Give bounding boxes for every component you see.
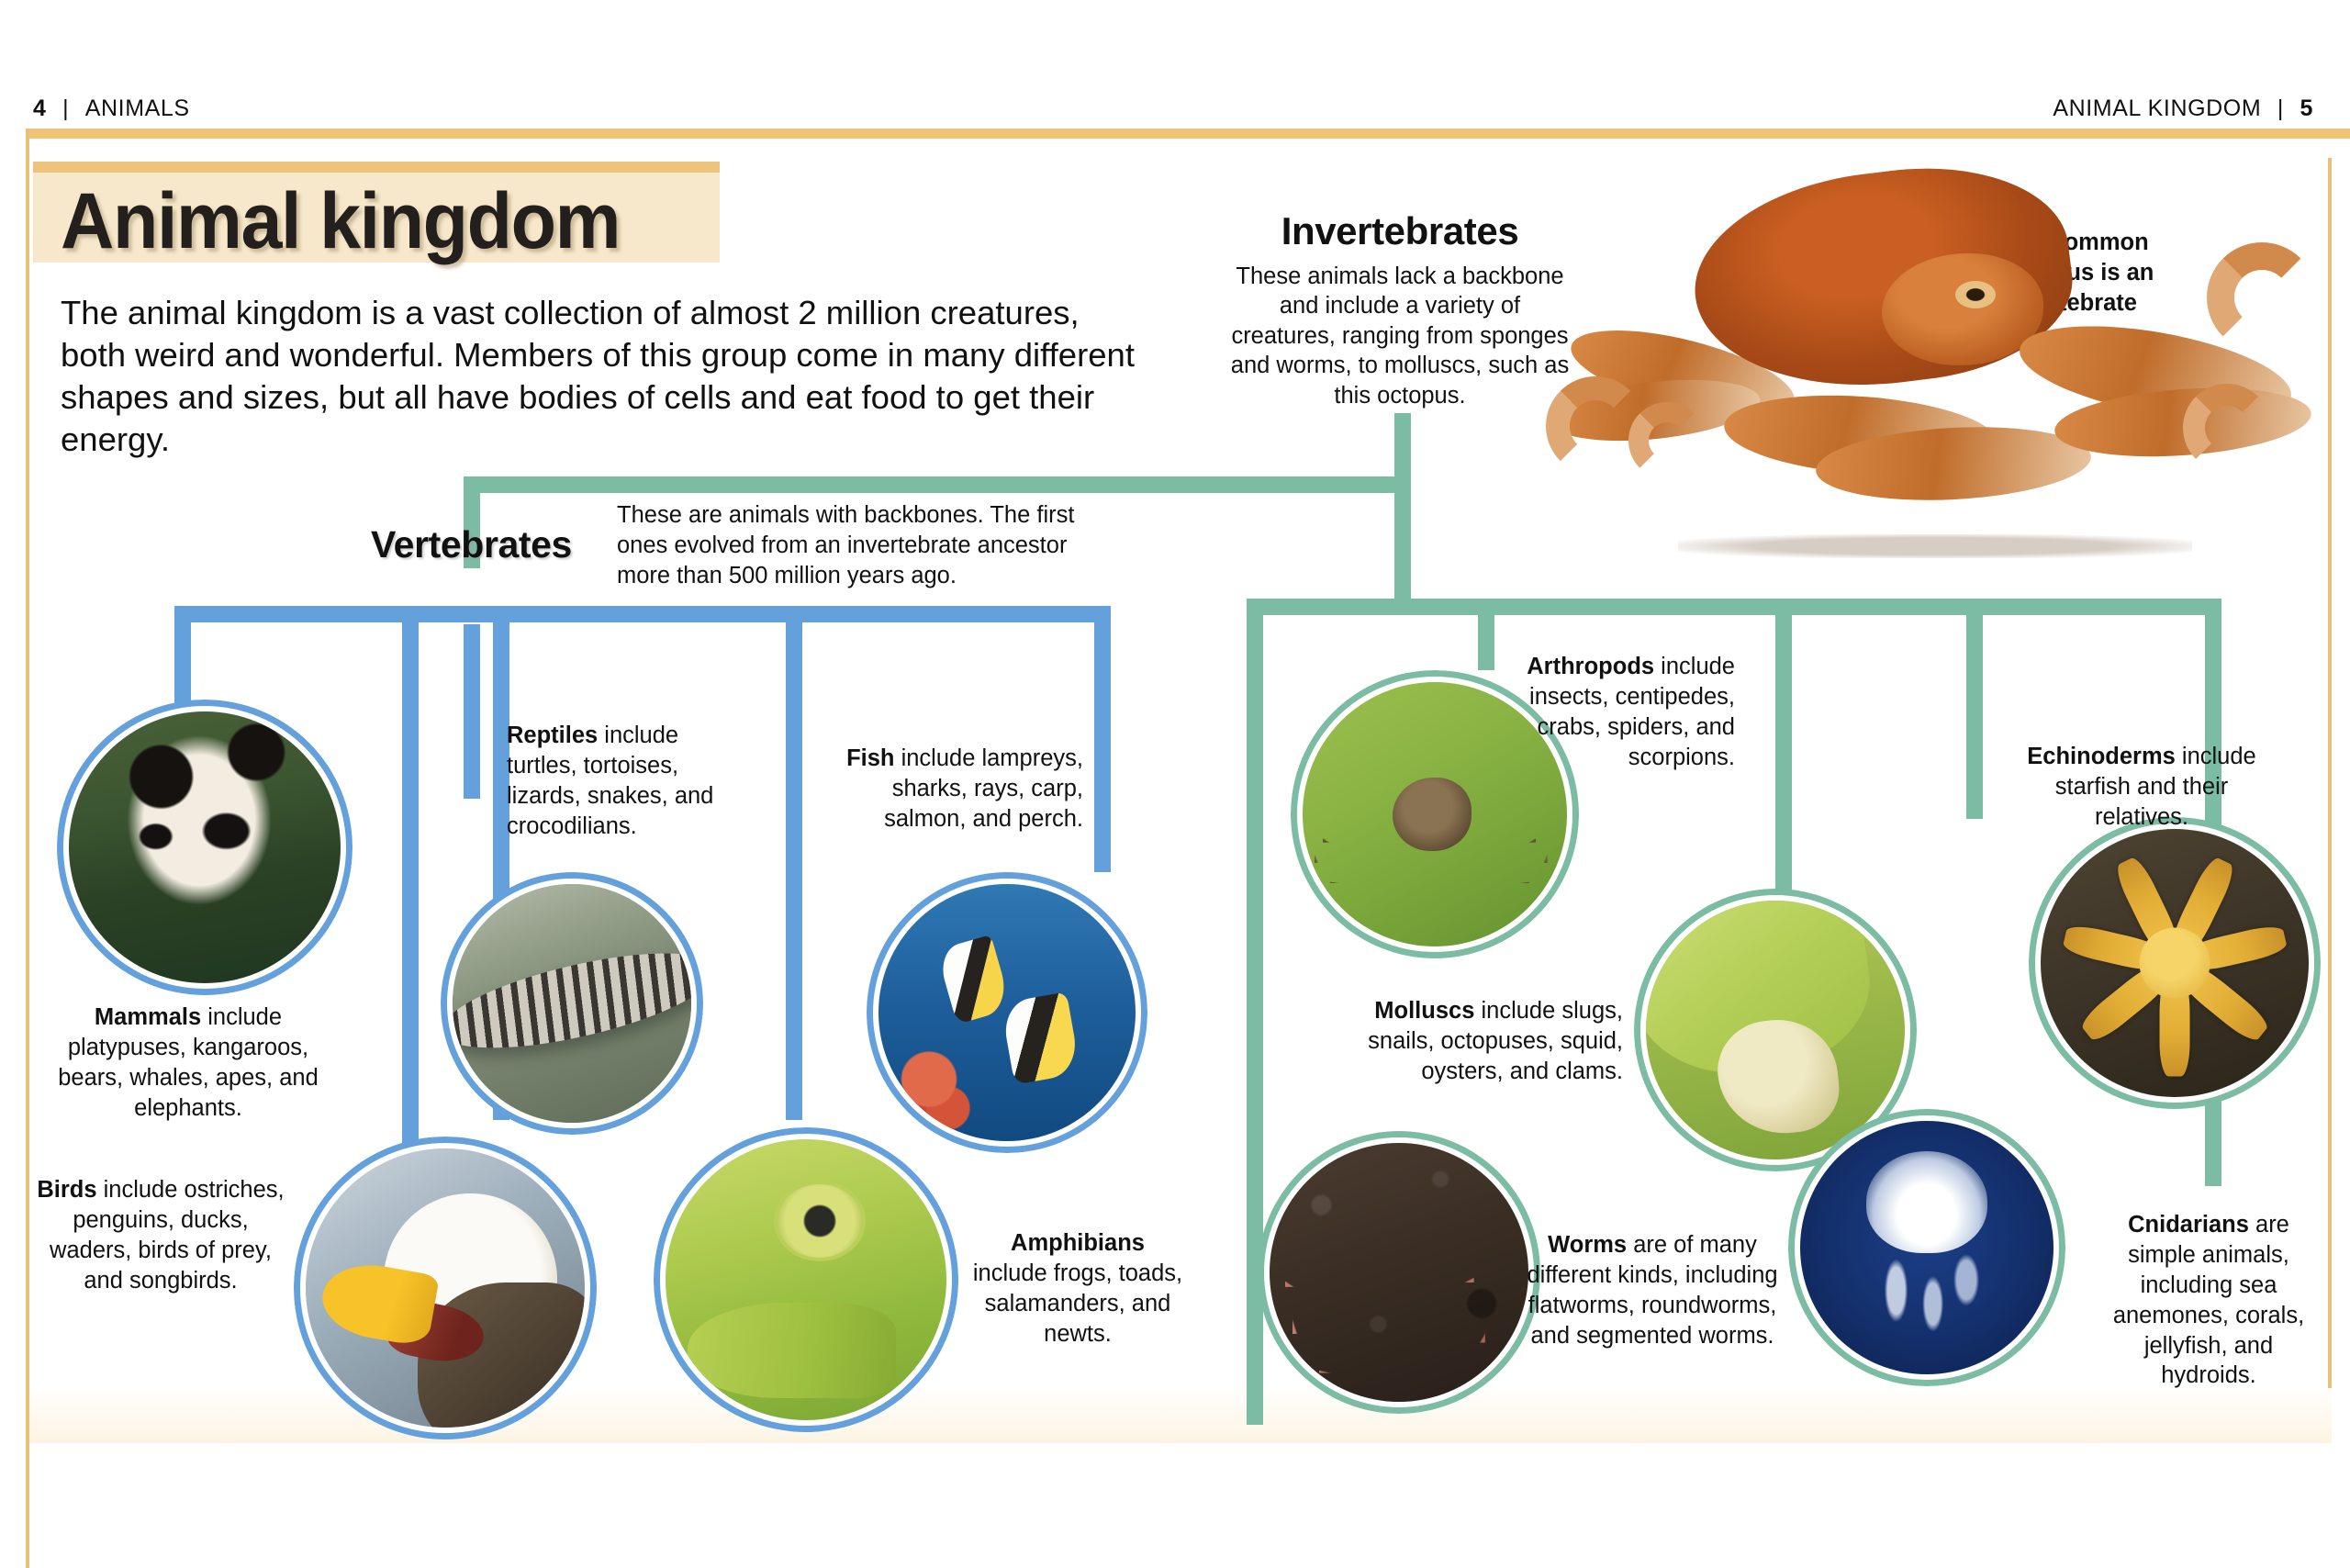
left-page-number: 4 <box>33 95 47 121</box>
common-octopus-photo <box>1540 165 2332 578</box>
caption-term: Cnidarians <box>2128 1212 2249 1238</box>
photo-content <box>453 884 691 1123</box>
octopus-arm-coil <box>2183 384 2271 472</box>
caption-reptiles: Reptiles include turtles, tortoises, liz… <box>507 721 736 842</box>
octopus-arm-coil <box>2207 242 2317 353</box>
invertebrate-bus <box>1247 599 2221 615</box>
earthworms-photo <box>1258 1131 1540 1414</box>
vertebrates-heading: Vertebrates <box>371 523 572 566</box>
photo-content <box>1800 1121 2053 1374</box>
octopus-arm-coil <box>1628 402 1706 479</box>
caption-term: Molluscs <box>1374 998 1474 1024</box>
caption-term: Fish <box>846 745 894 771</box>
coral-reef <box>894 1048 981 1141</box>
caption-worms: Worms are of many different kinds, inclu… <box>1524 1230 1781 1351</box>
vertebrate-drop-fish <box>1094 606 1111 872</box>
caption-rest: are simple animals, including sea anemon… <box>2113 1212 2304 1388</box>
photo-content <box>306 1148 585 1428</box>
invertebrates-description: These animals lack a backbone and includ… <box>1230 262 1570 410</box>
caption-amphibians: Amphibians include frogs, toads, salaman… <box>971 1228 1184 1350</box>
photo-content <box>2041 829 2309 1097</box>
caption-rest: include frogs, toads, salamanders, and n… <box>973 1260 1182 1347</box>
invertebrate-drop-snail <box>1775 599 1792 890</box>
caption-rest: include lampreys, sharks, rays, carp, sa… <box>884 745 1083 832</box>
caption-term: Amphibians <box>1011 1230 1145 1256</box>
photo-content <box>1270 1143 1528 1402</box>
snake-photo <box>441 872 703 1135</box>
invertebrate-stem <box>1394 413 1411 615</box>
caption-molluscs: Molluscs include slugs, snails, octopuse… <box>1329 996 1623 1087</box>
invertebrate-to-vertebrate-link <box>464 476 1411 493</box>
caption-term: Reptiles <box>507 722 598 748</box>
bannerfish-photo <box>867 872 1147 1153</box>
photo-content <box>666 1139 946 1420</box>
vertebrates-description: These are animals with backbones. The fi… <box>617 500 1085 591</box>
bald-eagle-photo <box>294 1137 597 1439</box>
folio-separator-right: | <box>2268 95 2293 121</box>
vertebrate-bus <box>174 606 1111 622</box>
header-rule <box>26 129 2350 139</box>
vertebrate-drop-amphibians <box>786 606 802 1120</box>
starfish-body <box>2057 846 2293 1081</box>
page-title: Animal kingdom <box>61 176 620 267</box>
caption-term: Worms <box>1548 1232 1627 1258</box>
right-section-label: ANIMAL KINGDOM <box>2053 95 2261 121</box>
jellyfish-photo <box>1788 1109 2065 1386</box>
caption-term: Arthropods <box>1527 654 1654 679</box>
caption-arthropods: Arthropods include insects, centipedes, … <box>1469 652 1735 773</box>
intro-paragraph: The animal kingdom is a vast collection … <box>61 292 1153 461</box>
octopus-eye <box>1955 281 1996 308</box>
caption-birds: Birds include ostriches, penguins, ducks… <box>37 1175 285 1296</box>
vertebrate-stem <box>464 624 480 799</box>
glass-frog-photo <box>654 1127 958 1432</box>
caption-mammals: Mammals include platypuses, kangaroos, b… <box>37 1002 340 1124</box>
caption-term: Birds <box>37 1177 96 1203</box>
starfish-photo <box>2029 817 2321 1109</box>
caption-echinoderms: Echinoderms include starfish and their r… <box>2009 742 2275 833</box>
photo-content <box>69 711 341 983</box>
running-head-right: ANIMAL KINGDOM | 5 <box>2053 95 2313 122</box>
encyclopedia-spread: 4 | ANIMALS ANIMAL KINGDOM | 5 Animal ki… <box>0 0 2350 1568</box>
left-section-label: ANIMALS <box>85 95 190 121</box>
caption-cnidarians: Cnidarians are simple animals, including… <box>2098 1210 2319 1391</box>
caption-fish: Fish include lampreys, sharks, rays, car… <box>817 744 1083 834</box>
running-head-left: 4 | ANIMALS <box>33 95 190 122</box>
right-page-number: 5 <box>2300 95 2313 121</box>
giant-panda-photo <box>57 700 352 995</box>
photo-content <box>878 884 1136 1141</box>
vertebrate-drop-birds <box>402 606 419 1157</box>
caption-term: Echinoderms <box>2027 744 2176 769</box>
invertebrates-heading: Invertebrates <box>1230 209 1570 253</box>
octopus-shadow <box>1678 534 2192 558</box>
invertebrates-header: Invertebrates These animals lack a backb… <box>1230 209 1570 410</box>
folio-separator-left: | <box>53 95 78 121</box>
caption-term: Mammals <box>95 1004 201 1030</box>
invertebrate-drop-echinoderms <box>1966 599 1983 819</box>
